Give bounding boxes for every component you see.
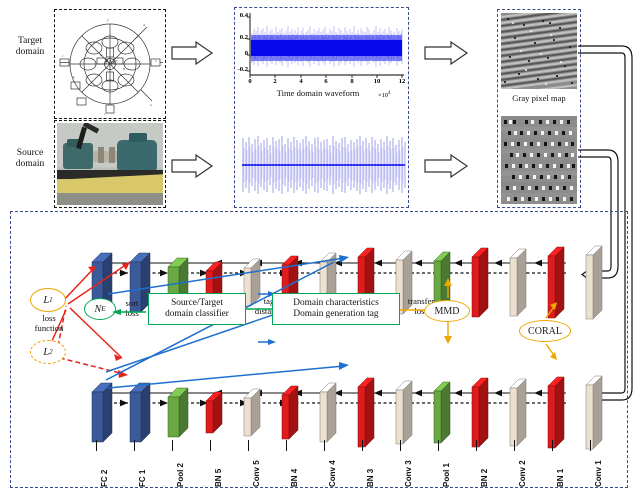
tick-mark-bn-1 [552, 440, 553, 451]
tick-mark-conv-1 [590, 440, 591, 451]
tick-mark-pool-1 [438, 440, 439, 451]
layer-label-bn-2: BN 2 [480, 469, 489, 487]
layer-label-pool-2: Pool 2 [176, 463, 185, 487]
tick-mark-bn-5 [210, 440, 211, 451]
tick-mark-conv-5 [248, 440, 249, 451]
layer-label-bn-4: BN 4 [290, 469, 299, 487]
tick-mark-conv-4 [324, 440, 325, 451]
layer-label-conv-3: Conv 3 [404, 460, 413, 487]
tick-mark-conv-2 [514, 440, 515, 451]
layer-label-bn-1: BN 1 [556, 469, 565, 487]
layer-label-fc-2: FC 2 [100, 470, 109, 487]
tick-mark-bn-4 [286, 440, 287, 451]
layer-label-bn-3: BN 3 [366, 469, 375, 487]
layer-label-pool-1: Pool 1 [442, 463, 451, 487]
tick-mark-pool-2 [172, 440, 173, 451]
tick-mark-fc-2 [96, 440, 97, 451]
tick-mark-conv-3 [400, 440, 401, 451]
network-layer-tick-labels: FC 2FC 1Pool 2BN 5Conv 5BN 4Conv 4BN 3Co… [0, 0, 639, 502]
tick-mark-bn-3 [362, 440, 363, 451]
tick-mark-fc-1 [134, 440, 135, 451]
layer-label-fc-1: FC 1 [138, 470, 147, 487]
layer-label-conv-5: Conv 5 [252, 460, 261, 487]
layer-label-bn-5: BN 5 [214, 469, 223, 487]
layer-label-conv-1: Conv 1 [594, 460, 603, 487]
tick-mark-bn-2 [476, 440, 477, 451]
layer-label-conv-4: Conv 4 [328, 460, 337, 487]
layer-label-conv-2: Conv 2 [518, 460, 527, 487]
